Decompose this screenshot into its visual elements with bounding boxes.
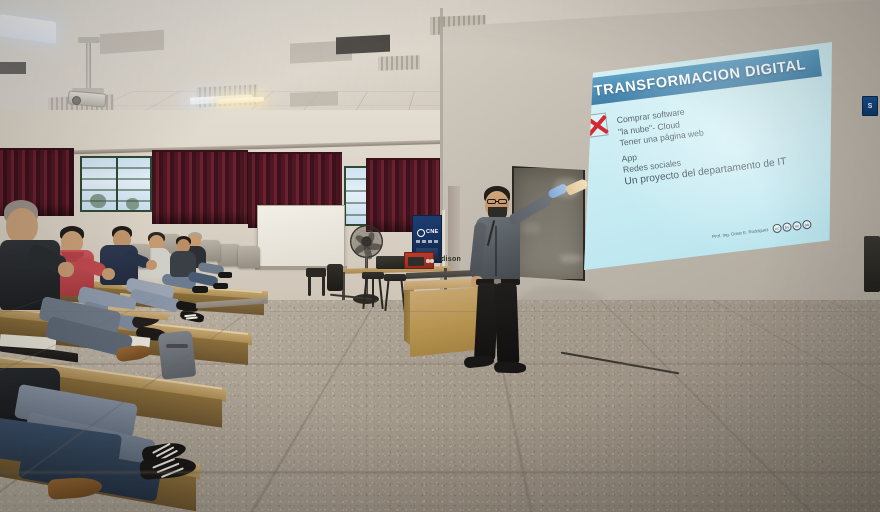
- banner-subtitle-bar: [416, 240, 438, 243]
- equipment-panel: [408, 257, 424, 266]
- wall-mounted-device: [864, 236, 880, 292]
- floor-bin: [327, 264, 343, 291]
- door-frame: [448, 186, 460, 278]
- lecture-hall-photo: S TRANSFORMACION DIGITAL Comprar softwar…: [0, 0, 880, 512]
- hand: [58, 262, 74, 277]
- presenter-leg: [495, 283, 520, 366]
- edison-equipment-case: [404, 252, 434, 269]
- presenter-shoe: [464, 354, 495, 368]
- sneaker: [139, 456, 196, 480]
- stool: [384, 274, 406, 310]
- chair-leg: [322, 276, 325, 296]
- wall-sign: S: [862, 96, 878, 116]
- glasses-icon: [487, 199, 496, 204]
- screen-glow: [584, 42, 832, 270]
- presenter: [462, 186, 532, 374]
- edison-brand-label: Edison: [436, 256, 461, 263]
- pedestal-fan-head: [350, 225, 383, 258]
- audience-member-foreground: [0, 426, 220, 512]
- backpack-strap: [166, 344, 188, 348]
- banner-logo-icon: [417, 229, 425, 237]
- leather-shoe: [47, 476, 102, 500]
- window-curtain: [152, 150, 248, 224]
- projection-screen: TRANSFORMACION DIGITAL Comprar software …: [584, 42, 832, 270]
- presenter-shoe: [494, 361, 526, 373]
- seat-back[interactable]: [238, 246, 260, 268]
- whiteboard: [257, 205, 345, 267]
- stool: [362, 272, 384, 308]
- glasses-icon: [498, 199, 507, 204]
- chair-leg: [308, 276, 311, 296]
- equipment-case: [376, 256, 406, 269]
- window: [344, 166, 368, 226]
- shirt-placket: [495, 226, 497, 276]
- wall-sign-label: S: [868, 103, 873, 110]
- banner-logo-label: CNE: [426, 229, 438, 235]
